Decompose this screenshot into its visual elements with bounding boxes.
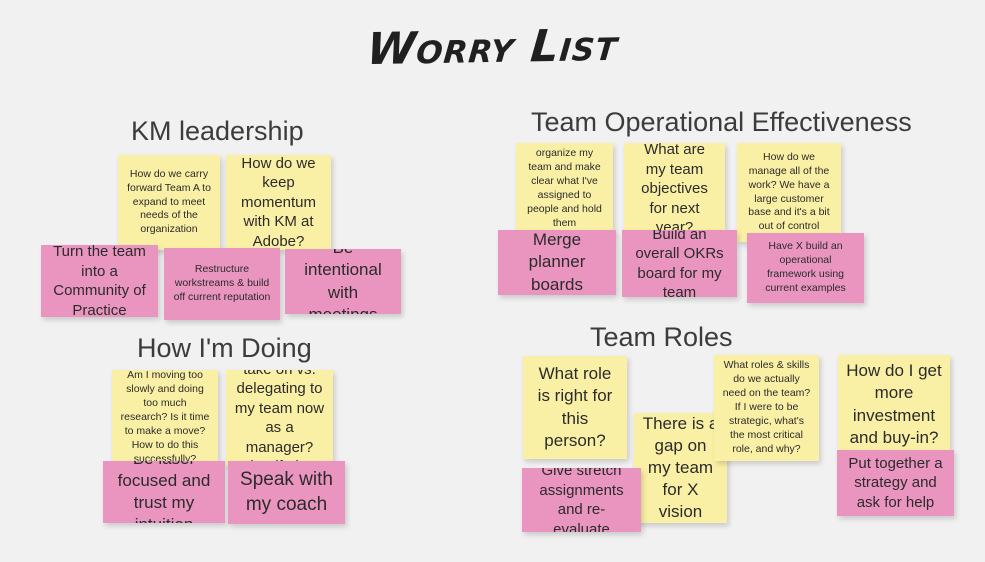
sticky-note[interactable]: Put together a strategy and ask for help	[837, 450, 954, 516]
sticky-note-text: Build an overall OKRs board for my team	[630, 230, 729, 297]
sticky-note[interactable]: Build an overall OKRs board for my team	[622, 230, 737, 297]
worry-list-board: Worry List KM leadership How do we carry…	[0, 0, 985, 562]
sticky-note[interactable]: What are my team objectives for next yea…	[624, 143, 725, 235]
sticky-note[interactable]: Merge planner boards	[498, 230, 616, 295]
sticky-note-text: Give stretch assignments and re-evaluate	[530, 468, 633, 532]
sticky-note-text: There is a gap on my team for X vision	[642, 413, 719, 523]
sticky-note-text: Turn the team into a Community of Practi…	[49, 245, 150, 317]
sticky-note-text: Am I moving too slowly and doing too muc…	[120, 370, 210, 466]
sticky-note-text: Speak with my coach	[236, 468, 337, 517]
sticky-note[interactable]: What do I take on vs. delegating to my t…	[226, 370, 333, 466]
sticky-note-text: Have X build an operational framework us…	[755, 240, 856, 296]
sticky-note-text: How do we manage all of the work? We hav…	[745, 151, 833, 235]
sticky-note[interactable]: Restructure workstreams & build off curr…	[164, 248, 280, 320]
sticky-note-text: Be intentional with meetings	[293, 249, 393, 314]
sticky-note-text: What role is right for this person?	[531, 363, 619, 451]
sticky-note-text: What are my team objectives for next yea…	[632, 143, 717, 235]
sticky-note[interactable]: What roles & skills do we actually need …	[714, 355, 819, 461]
sticky-note-text: Restructure workstreams & build off curr…	[172, 263, 272, 305]
sticky-note-text: What do I take on vs. delegating to my t…	[234, 370, 325, 466]
sticky-note-text: Be laser focused and trust my intuition	[111, 461, 217, 523]
section-heading-team-operational-effectiveness: Team Operational Effectiveness	[531, 107, 912, 138]
section-heading-km-leadership: KM leadership	[131, 116, 304, 147]
sticky-note[interactable]: Am I moving too slowly and doing too muc…	[112, 370, 218, 466]
sticky-note[interactable]: How do I get more investment and buy-in?	[838, 355, 950, 454]
sticky-note-text: Merge planner boards	[506, 230, 608, 295]
sticky-note[interactable]: Be laser focused and trust my intuition	[103, 461, 225, 523]
sticky-note-text: How do I get more investment and buy-in?	[846, 360, 942, 448]
sticky-note[interactable]: Speak with my coach	[228, 461, 345, 524]
sticky-note-text: How do I organize my team and make clear…	[524, 143, 605, 235]
sticky-note[interactable]: Be intentional with meetings	[285, 249, 401, 314]
sticky-note[interactable]: Have X build an operational framework us…	[747, 233, 864, 303]
page-title: Worry List	[0, 13, 985, 81]
sticky-note-text: How do we carry forward Team A to expand…	[126, 168, 212, 238]
sticky-note[interactable]: Give stretch assignments and re-evaluate	[522, 468, 641, 532]
sticky-note[interactable]: How do we keep momentum with KM at Adobe…	[226, 155, 331, 250]
sticky-note-text: What roles & skills do we actually need …	[722, 359, 811, 457]
sticky-note[interactable]: How do I organize my team and make clear…	[516, 143, 613, 235]
sticky-note-text: How do we keep momentum with KM at Adobe…	[234, 155, 323, 250]
sticky-note[interactable]: Turn the team into a Community of Practi…	[41, 245, 158, 317]
section-heading-how-im-doing: How I'm Doing	[137, 333, 312, 364]
sticky-note[interactable]: What role is right for this person?	[523, 356, 627, 459]
sticky-note[interactable]: How do we carry forward Team A to expand…	[118, 155, 220, 250]
sticky-note-text: Put together a strategy and ask for help	[845, 454, 946, 513]
sticky-note[interactable]: How do we manage all of the work? We hav…	[737, 143, 841, 242]
section-heading-team-roles: Team Roles	[590, 322, 733, 353]
